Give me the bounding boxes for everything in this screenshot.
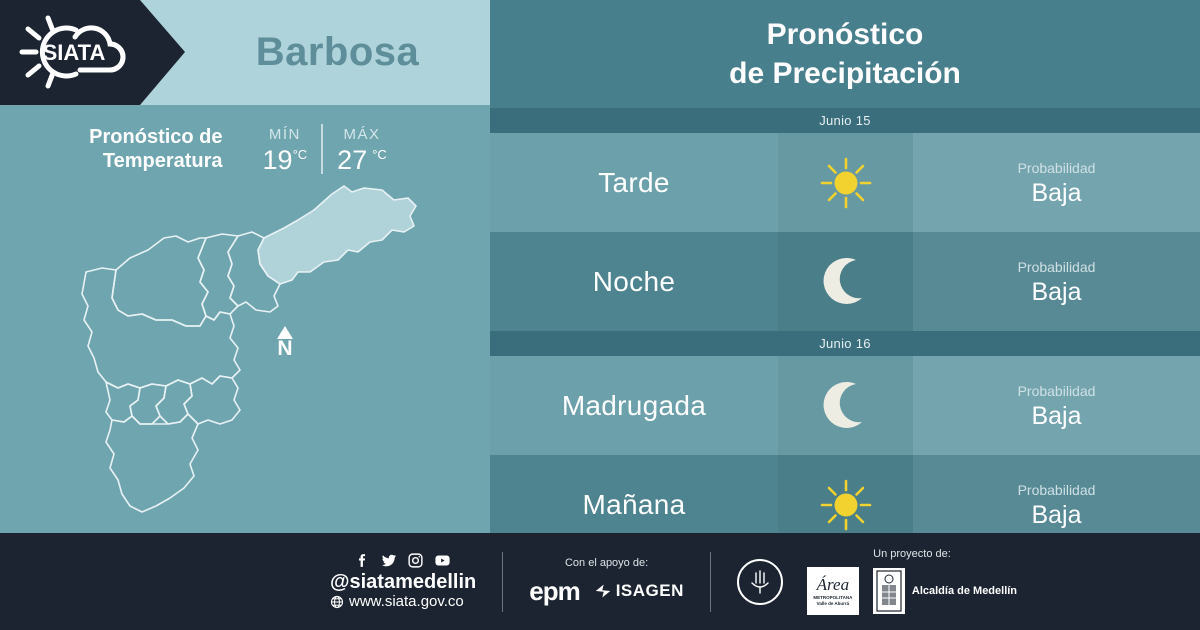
right-panel: Pronóstico de Precipitación Junio 15 Tar… (490, 0, 1200, 533)
isagen-mark-icon (594, 583, 612, 599)
weather-icon-cell (778, 133, 913, 232)
temperature-max-value: 27 (337, 145, 367, 175)
temperature-title-line2: Temperatura (89, 149, 222, 173)
period-label: Noche (593, 266, 675, 298)
temperature-block: Pronóstico de Temperatura MÍN 19°C MÁX 2… (0, 118, 490, 180)
footer-divider-2 (710, 552, 711, 612)
probability-value: Baja (1031, 501, 1081, 530)
temperature-values: MÍN 19°C MÁX 27°C (249, 124, 401, 175)
period-cell: Tarde (490, 133, 778, 232)
amva-sub-line1: METROPOLITANA (813, 595, 852, 601)
map-region-caldas (106, 414, 198, 512)
weather-forecast-poster: SIATA Barbosa Pronóstico de Temperatura … (0, 0, 1200, 630)
left-panel: SIATA Barbosa Pronóstico de Temperatura … (0, 0, 490, 533)
weather-icon-cell (778, 356, 913, 455)
precipitation-title: Pronóstico de Precipitación (729, 15, 961, 93)
epm-logo: epm (529, 576, 579, 607)
probability-value: Baja (1031, 278, 1081, 307)
support-logos: epm ISAGEN (529, 576, 684, 607)
project-block: Un proyecto de: Área METROPOLITANA Valle… (807, 548, 1017, 615)
aburra-valley-map (52, 180, 452, 530)
youtube-icon[interactable] (433, 552, 452, 569)
map-region-barbosa (258, 186, 416, 284)
isagen-logo: ISAGEN (616, 581, 684, 601)
date-band-day2: Junio 16 (490, 331, 1200, 356)
date-label-day1: Junio 15 (819, 113, 871, 128)
temperature-max-label: MÁX (337, 124, 387, 147)
probability-label: Probabilidad (1018, 257, 1096, 278)
temperature-max-unit: °C (372, 147, 387, 162)
moon-icon (818, 378, 874, 434)
social-handle[interactable]: @siatamedellin (330, 571, 476, 593)
amva-sub-line2: Valle de Aburrá (813, 601, 852, 607)
map-region-sabaneta (130, 384, 166, 424)
twitter-icon[interactable] (380, 552, 398, 569)
map-region-copacabana (198, 234, 238, 320)
social-block: @siatamedellin www.siata.gov.co (330, 552, 476, 611)
date-band-day1: Junio 15 (490, 108, 1200, 133)
website-line[interactable]: www.siata.gov.co (330, 593, 476, 611)
map-region-medellin (82, 268, 240, 388)
sun-icon (816, 475, 876, 535)
weather-icon-cell (778, 232, 913, 331)
precipitation-title-line1: Pronóstico (729, 15, 961, 54)
period-label: Madrugada (562, 390, 706, 422)
medellin-seal-block (737, 559, 783, 605)
forecast-row: Noche Probabilidad Baja (490, 232, 1200, 331)
siata-logo-text: SIATA (43, 40, 106, 65)
moon-icon (818, 254, 874, 310)
temperature-min-unit: °C (293, 147, 308, 162)
forecast-row: Madrugada Probabilidad Baja (490, 356, 1200, 455)
facebook-icon[interactable] (354, 552, 371, 569)
forecast-row: Tarde Pro (490, 133, 1200, 232)
probability-cell: Probabilidad Baja (913, 232, 1200, 331)
temperature-min-value: 19 (263, 145, 293, 175)
precipitation-title-line2: de Precipitación (729, 54, 961, 93)
period-cell: Madrugada (490, 356, 778, 455)
globe-icon (330, 595, 344, 609)
temperature-max: MÁX 27°C (323, 124, 401, 175)
map-region-bello (112, 236, 208, 326)
sun-cloud-icon: SIATA (14, 12, 154, 92)
temperature-min-label: MÍN (263, 124, 308, 147)
footer: @siatamedellin www.siata.gov.co Con el a… (0, 533, 1200, 630)
period-cell: Noche (490, 232, 778, 331)
amva-script-name: Área (817, 576, 849, 593)
city-name: Barbosa (185, 0, 490, 105)
temperature-max-value-wrap: 27°C (337, 146, 387, 174)
probability-label: Probabilidad (1018, 381, 1096, 402)
period-label: Tarde (598, 167, 670, 199)
support-block: Con el apoyo de: epm ISAGEN (529, 557, 684, 607)
probability-value: Baja (1031, 179, 1081, 208)
date-label-day2: Junio 16 (819, 336, 871, 351)
footer-divider-1 (502, 552, 503, 612)
area-metropolitana-logo: Área METROPOLITANA Valle de Aburrá (807, 567, 859, 615)
probability-cell: Probabilidad Baja (913, 356, 1200, 455)
instagram-icon[interactable] (407, 552, 424, 569)
amva-subtitle: METROPOLITANA Valle de Aburrá (813, 595, 852, 606)
temperature-min-value-wrap: 19°C (263, 146, 308, 174)
seal-inner-icon (745, 567, 775, 597)
probability-value: Baja (1031, 402, 1081, 431)
website-url: www.siata.gov.co (349, 593, 464, 611)
support-caption: Con el apoyo de: (529, 557, 684, 569)
probability-label: Probabilidad (1018, 480, 1096, 501)
alcaldia-crest-icon (873, 568, 905, 614)
compass-label: N (277, 338, 293, 359)
probability-cell: Probabilidad Baja (913, 133, 1200, 232)
compass-north-icon: N (277, 326, 293, 359)
project-caption: Un proyecto de: (807, 548, 1017, 560)
alcaldia-crest-svg (873, 568, 905, 614)
precipitation-header: Pronóstico de Precipitación (490, 0, 1200, 108)
map-svg (52, 180, 452, 530)
project-logos: Área METROPOLITANA Valle de Aburrá (807, 567, 1017, 615)
medellin-seal-icon (737, 559, 783, 605)
alcaldia-logo: Alcaldía de Medellín (873, 568, 1017, 614)
temperature-title-line1: Pronóstico de (89, 125, 222, 149)
probability-label: Probabilidad (1018, 158, 1096, 179)
temperature-title: Pronóstico de Temperatura (89, 125, 222, 174)
social-icons (330, 552, 476, 569)
sun-icon (816, 153, 876, 213)
period-label: Mañana (583, 489, 686, 521)
map-region-envigado (184, 376, 240, 424)
alcaldia-name: Alcaldía de Medellín (912, 585, 1017, 597)
temperature-min: MÍN 19°C (249, 124, 324, 175)
